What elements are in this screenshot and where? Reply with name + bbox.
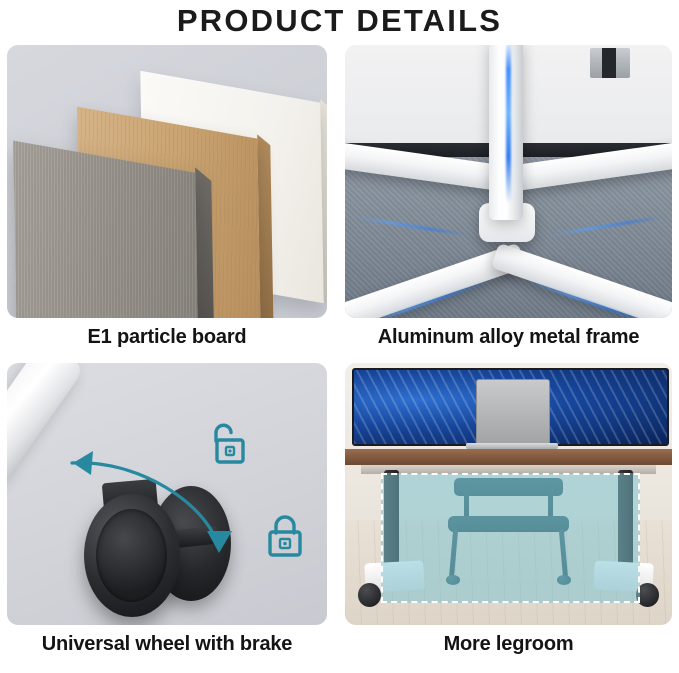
caption-universal-wheel: Universal wheel with brake — [7, 633, 327, 656]
more-legroom-image — [345, 363, 672, 625]
unlock-icon — [203, 421, 249, 469]
panel-more-legroom: More legroom — [345, 363, 672, 625]
legroom-highlight-area — [381, 473, 640, 603]
product-details-infographic: PRODUCT DETAILS E1 particle board — [0, 0, 679, 673]
column-blue-glow — [506, 45, 511, 203]
brake-toggle-arrow — [7, 363, 327, 625]
particle-board-image — [7, 45, 327, 318]
desk-caster-left — [358, 583, 381, 607]
laptop — [476, 379, 550, 449]
lock-icon — [263, 513, 307, 561]
wall-vent-icon — [590, 48, 629, 78]
panel-universal-wheel: Universal wheel with brake — [7, 363, 327, 625]
caption-particle-board: E1 particle board — [7, 326, 327, 349]
details-grid: E1 particle board Aluminum — [7, 45, 672, 665]
metal-frame-image — [345, 45, 672, 318]
panel-metal-frame: Aluminum alloy metal frame — [345, 45, 672, 318]
caster-wheel-image — [7, 363, 327, 625]
caption-metal-frame: Aluminum alloy metal frame — [345, 326, 672, 349]
caption-more-legroom: More legroom — [345, 633, 672, 656]
panel-particle-board: E1 particle board — [7, 45, 327, 318]
desk-top — [345, 449, 672, 465]
page-title: PRODUCT DETAILS — [0, 0, 679, 42]
